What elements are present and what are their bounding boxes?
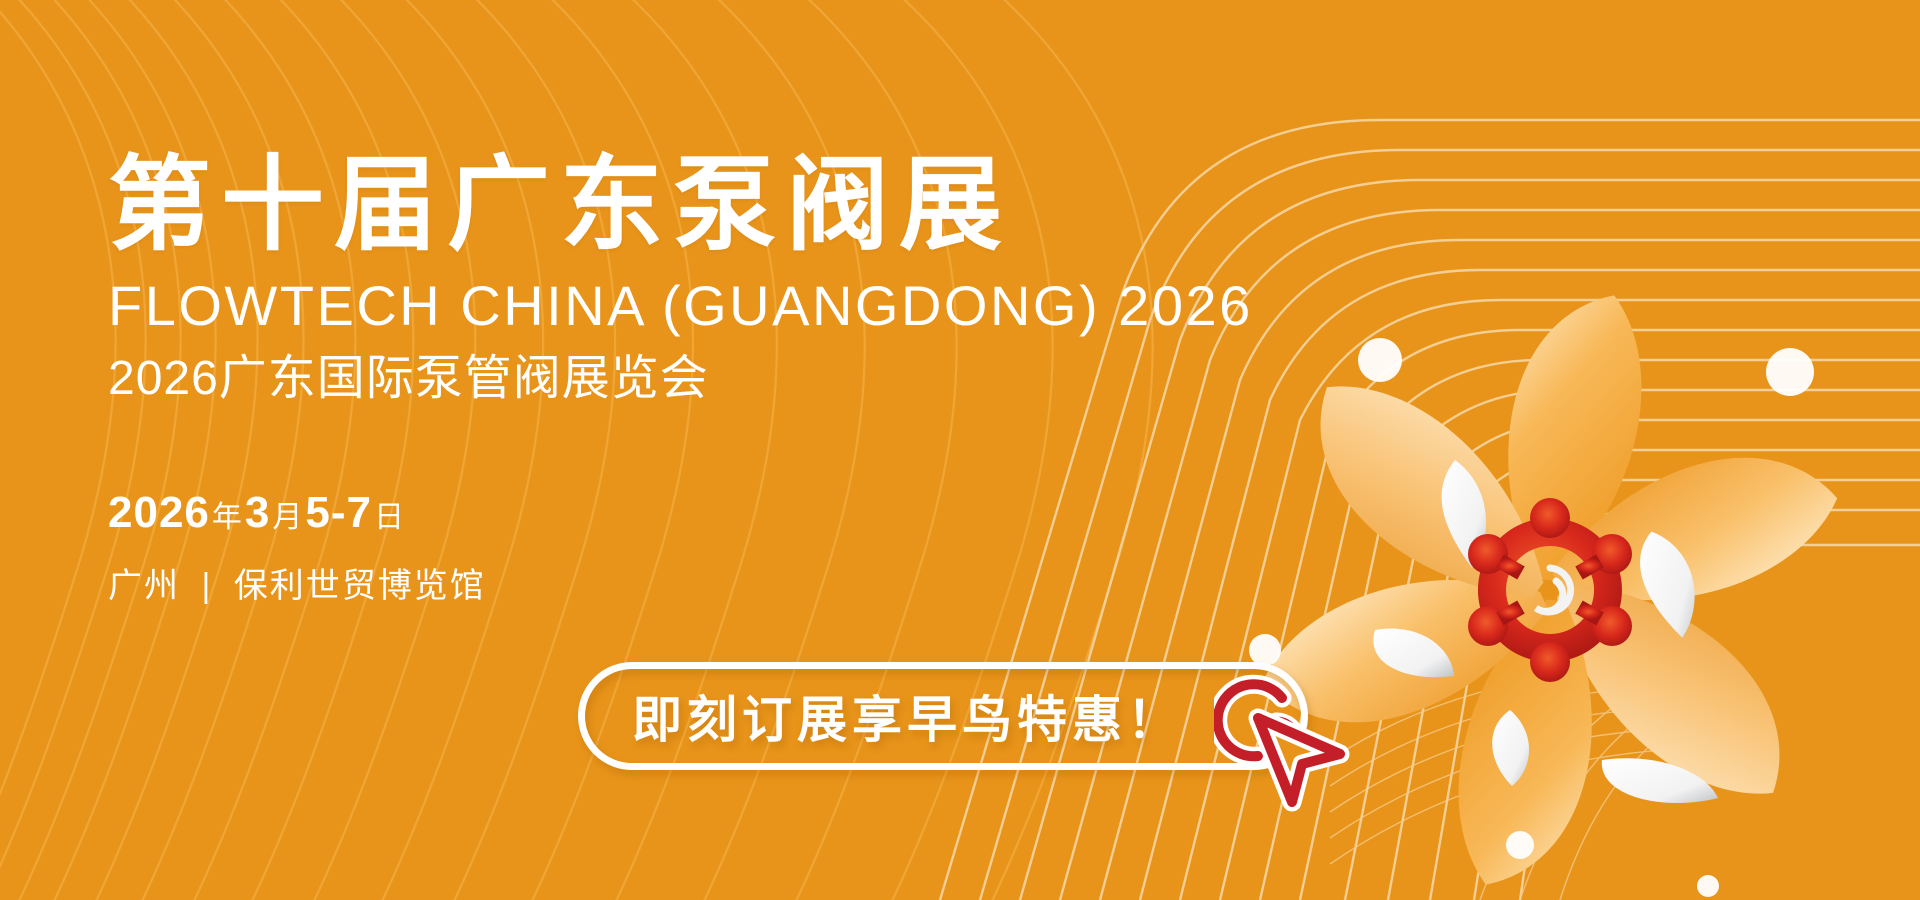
cta-container: 即刻订展享早鸟特惠！ xyxy=(578,662,1308,770)
date-day-unit: 日 xyxy=(372,492,407,536)
date-year-unit: 年 xyxy=(210,492,245,536)
page-title-english: FLOWTECH CHINA (GUANGDONG) 2026 xyxy=(108,275,1208,337)
venue-city: 广州 xyxy=(108,567,180,605)
promo-banner: 第十届广东泵阀展 FLOWTECH CHINA (GUANGDONG) 2026… xyxy=(0,0,1920,900)
early-bird-cta-button[interactable]: 即刻订展享早鸟特惠！ xyxy=(578,662,1308,770)
venue-separator: | xyxy=(191,567,222,605)
venue-name: 保利世贸博览馆 xyxy=(234,567,486,605)
headline-block: 第十届广东泵阀展 FLOWTECH CHINA (GUANGDONG) 2026… xyxy=(108,150,1208,607)
date-month-unit: 月 xyxy=(270,492,305,536)
date-days: 5-7 xyxy=(305,488,372,538)
cta-label: 即刻订展享早鸟特惠！ xyxy=(618,680,1268,752)
date-year: 2026 xyxy=(108,488,210,538)
event-date: 2026 年 3 月 5-7 日 xyxy=(108,488,1208,538)
page-title: 第十届广东泵阀展 xyxy=(108,150,1208,259)
page-subtitle: 2026广东国际泵管阀展览会 xyxy=(108,351,1208,406)
date-month: 3 xyxy=(245,488,270,538)
event-venue: 广州 | 保利世贸博览馆 xyxy=(108,558,1208,607)
